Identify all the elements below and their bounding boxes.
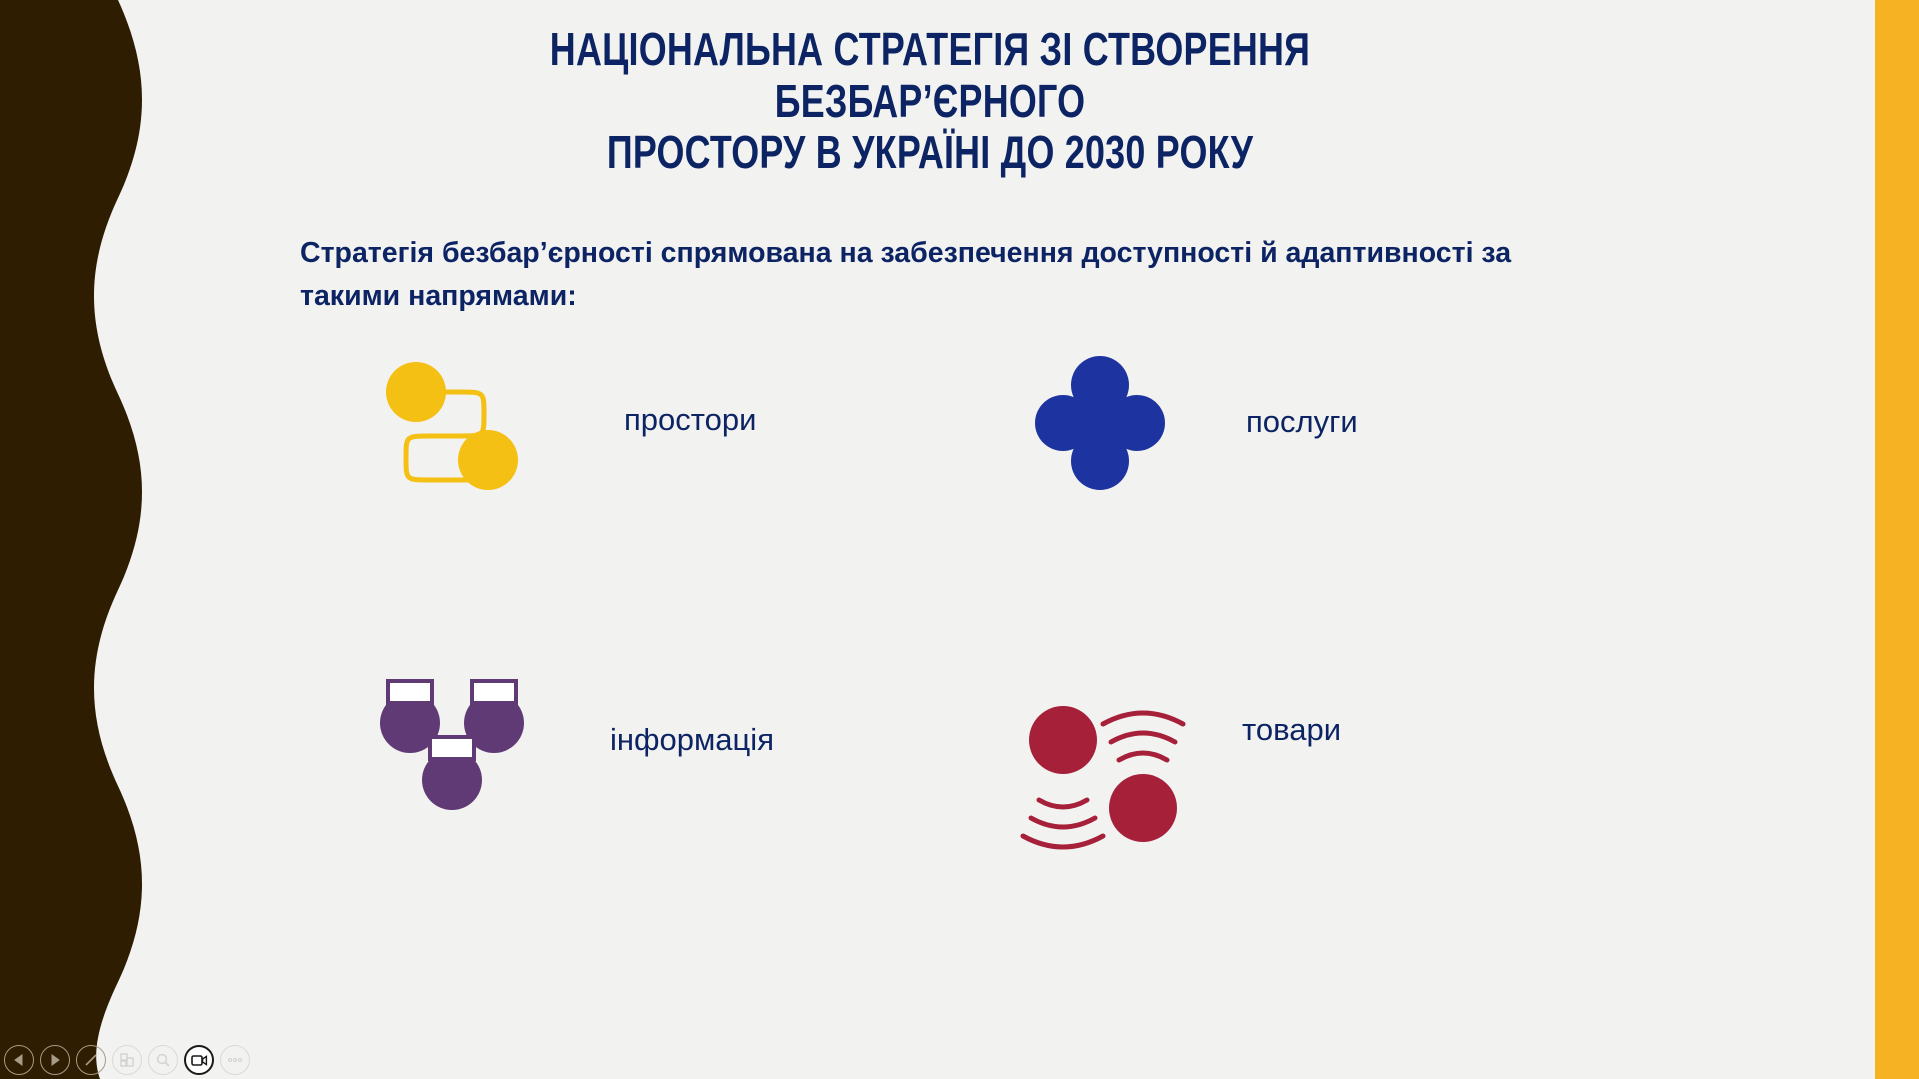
direction-item-goods: товари [1002,672,1341,872]
previous-slide-button[interactable] [4,1045,34,1075]
next-slide-button[interactable] [40,1045,70,1075]
slide-grid-button[interactable] [112,1045,142,1075]
direction-label-spaces: простори [624,402,756,438]
intro-paragraph: Стратегія безбар’єрності спрямована на з… [300,232,1880,319]
signal-waves-icon [1002,672,1202,872]
five-dots-cross-icon [1000,322,1200,522]
more-options-button[interactable] [220,1045,250,1075]
two-dots-path-icon [352,320,552,520]
direction-label-goods: товари [1242,712,1341,748]
three-node-info-icon [352,640,552,840]
presentation-slide: НАЦІОНАЛЬНА СТРАТЕГІЯ ЗІ СТВОРЕННЯ БЕЗБА… [0,0,1919,1079]
page-title: НАЦІОНАЛЬНА СТРАТЕГІЯ ЗІ СТВОРЕННЯ БЕЗБА… [423,24,1437,179]
direction-item-information: інформація [352,640,774,840]
direction-label-services: послуги [1246,404,1358,440]
record-button[interactable] [184,1045,214,1075]
pen-tool-button[interactable] [76,1045,106,1075]
right-accent-band [1875,0,1919,1079]
direction-item-services: послуги [1000,322,1358,522]
zoom-button[interactable] [148,1045,178,1075]
left-wave-band [0,0,150,1079]
presentation-toolbar [0,1040,280,1079]
direction-item-spaces: простори [352,320,756,520]
intro-paragraph-line-2: такими напрямами: [300,275,1880,318]
direction-label-information: інформація [610,722,774,758]
intro-paragraph-line-1: Стратегія безбар’єрності спрямована на з… [300,232,1880,275]
